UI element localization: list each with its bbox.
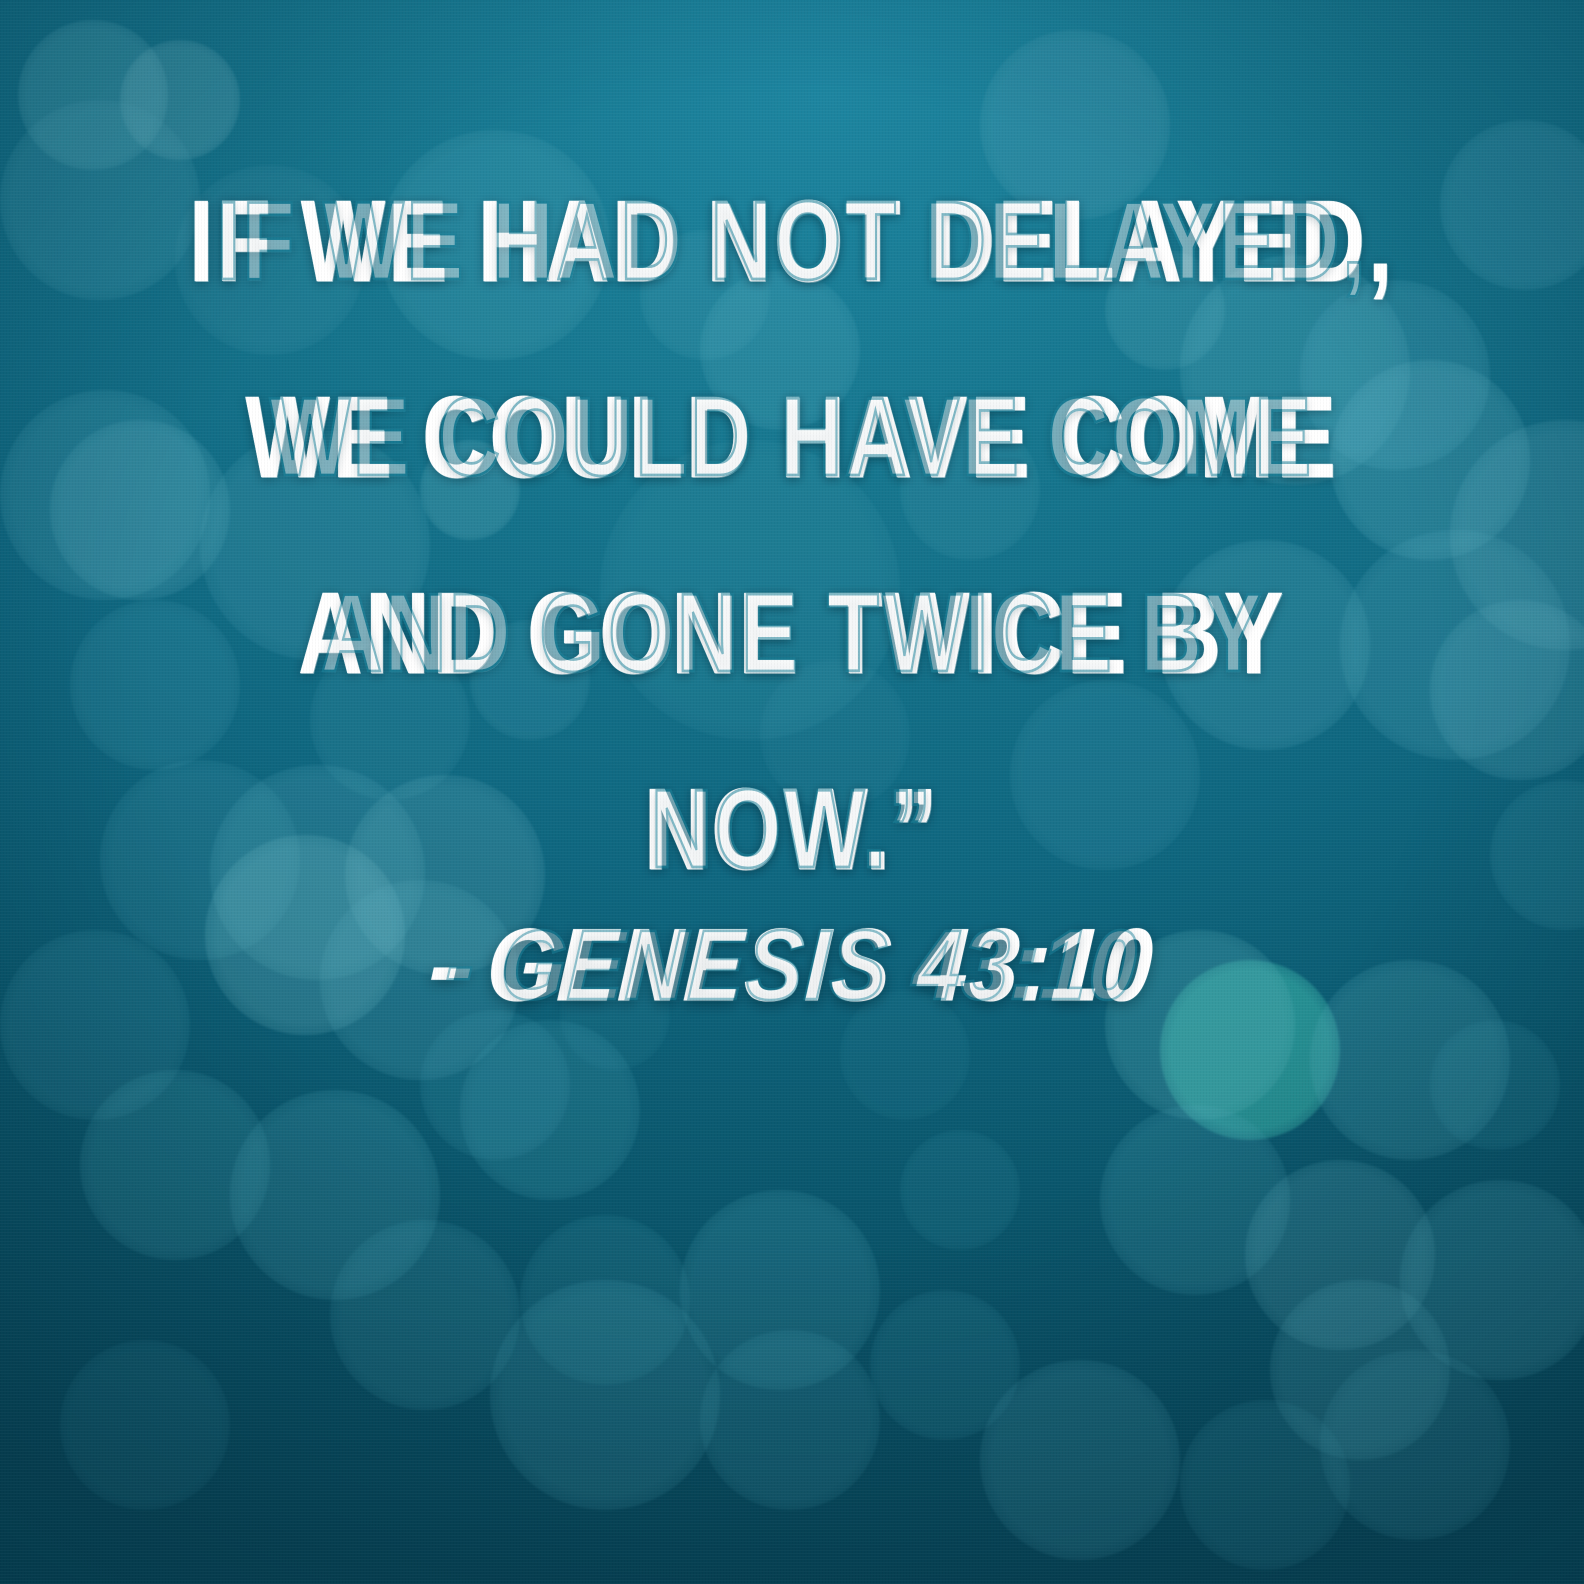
verse-line-2-text: WE COULD HAVE COME [245,328,1338,548]
verse-line-4: NOW.” [111,720,1473,940]
verse-attribution: - GENESIS 43:10 [0,918,1584,1014]
verse-attribution-text: - GENESIS 43:10 [427,914,1158,1018]
verse-image-canvas: IF WE HAD NOT DELAYED, WE COULD HAVE COM… [0,0,1584,1584]
verse-text-block: IF WE HAD NOT DELAYED, WE COULD HAVE COM… [0,132,1584,916]
verse-line-2: WE COULD HAVE COME [111,328,1473,548]
verse-line-3: AND GONE TWICE BY [111,524,1473,744]
verse-line-3-text: AND GONE TWICE BY [298,524,1286,744]
verse-line-1: IF WE HAD NOT DELAYED, [111,132,1473,352]
verse-line-1-text: IF WE HAD NOT DELAYED, [189,132,1395,352]
verse-line-4-text: NOW.” [644,720,940,940]
